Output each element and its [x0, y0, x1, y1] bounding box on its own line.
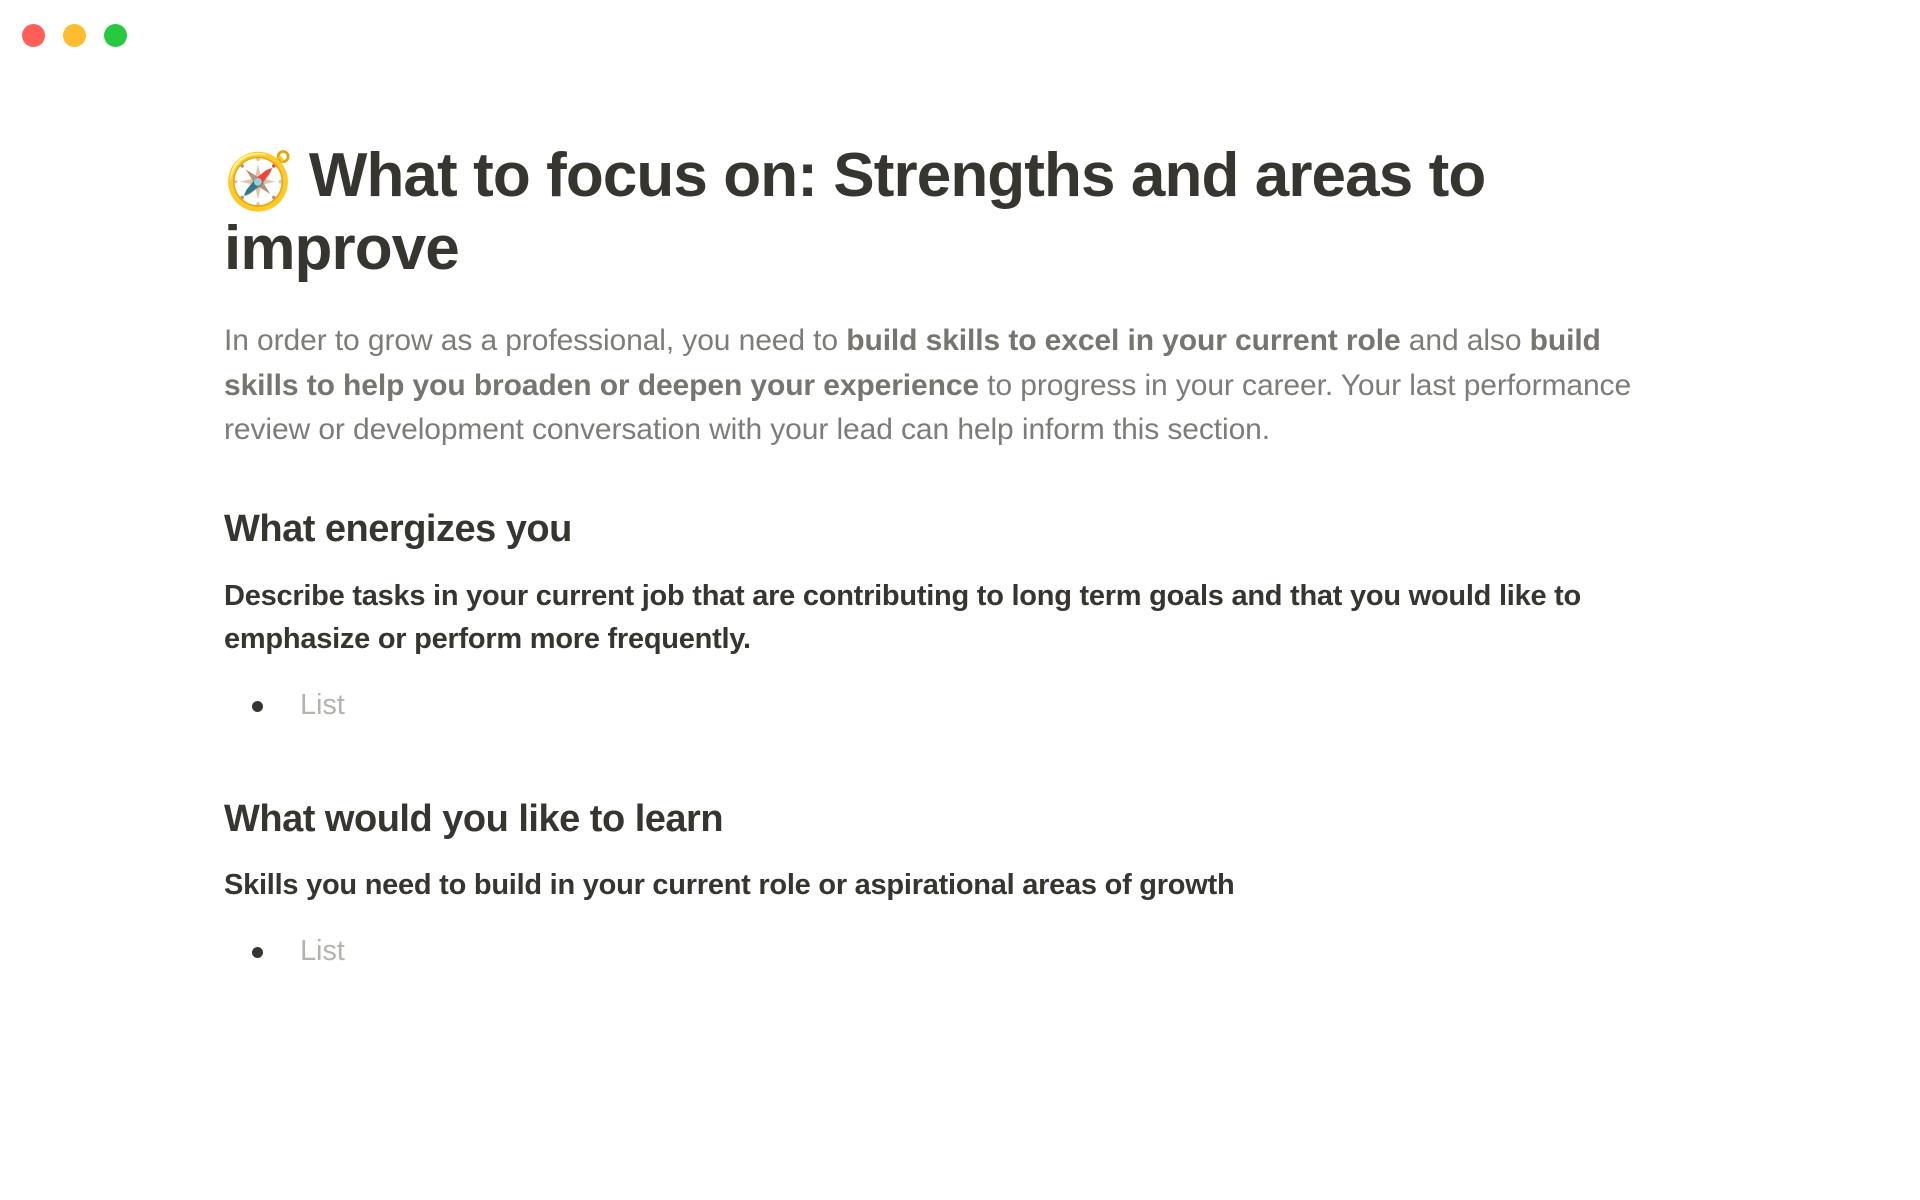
- list-item[interactable]: List: [224, 930, 1664, 974]
- maximize-button-icon[interactable]: [104, 24, 127, 47]
- app-window: 🧭What to focus on: Strengths and areas t…: [0, 0, 1920, 1200]
- window-titlebar: [0, 0, 1920, 72]
- minimize-button-icon[interactable]: [63, 24, 86, 47]
- list-item[interactable]: List: [224, 684, 1664, 728]
- bullet-list: List: [224, 930, 1664, 974]
- list-item-text: List: [300, 935, 345, 967]
- intro-bold-1: build skills to excel in your current ro…: [846, 324, 1400, 357]
- intro-part-1: In order to grow as a professional, you …: [224, 324, 846, 357]
- section-heading[interactable]: What energizes you: [224, 505, 1664, 554]
- section-heading[interactable]: What would you like to learn: [224, 795, 1664, 844]
- section-what-energizes-you: What energizes you Describe tasks in you…: [224, 505, 1664, 727]
- page-title-text: What to focus on: Strengths and areas to…: [224, 141, 1485, 283]
- bullet-icon: [252, 947, 263, 958]
- window-controls: [22, 24, 127, 47]
- compass-icon[interactable]: 🧭: [224, 153, 293, 209]
- bullet-list: List: [224, 684, 1664, 728]
- section-what-would-you-like-to-learn: What would you like to learn Skills you …: [224, 795, 1664, 973]
- section-description[interactable]: Skills you need to build in your current…: [224, 864, 1644, 908]
- document-body: 🧭What to focus on: Strengths and areas t…: [224, 140, 1664, 973]
- close-button-icon[interactable]: [22, 24, 45, 47]
- bullet-icon: [252, 701, 263, 712]
- list-item-text: List: [300, 689, 345, 721]
- section-description[interactable]: Describe tasks in your current job that …: [224, 575, 1644, 662]
- page-title[interactable]: 🧭What to focus on: Strengths and areas t…: [224, 140, 1594, 285]
- intro-paragraph[interactable]: In order to grow as a professional, you …: [224, 319, 1659, 453]
- intro-part-2: and also: [1401, 324, 1530, 357]
